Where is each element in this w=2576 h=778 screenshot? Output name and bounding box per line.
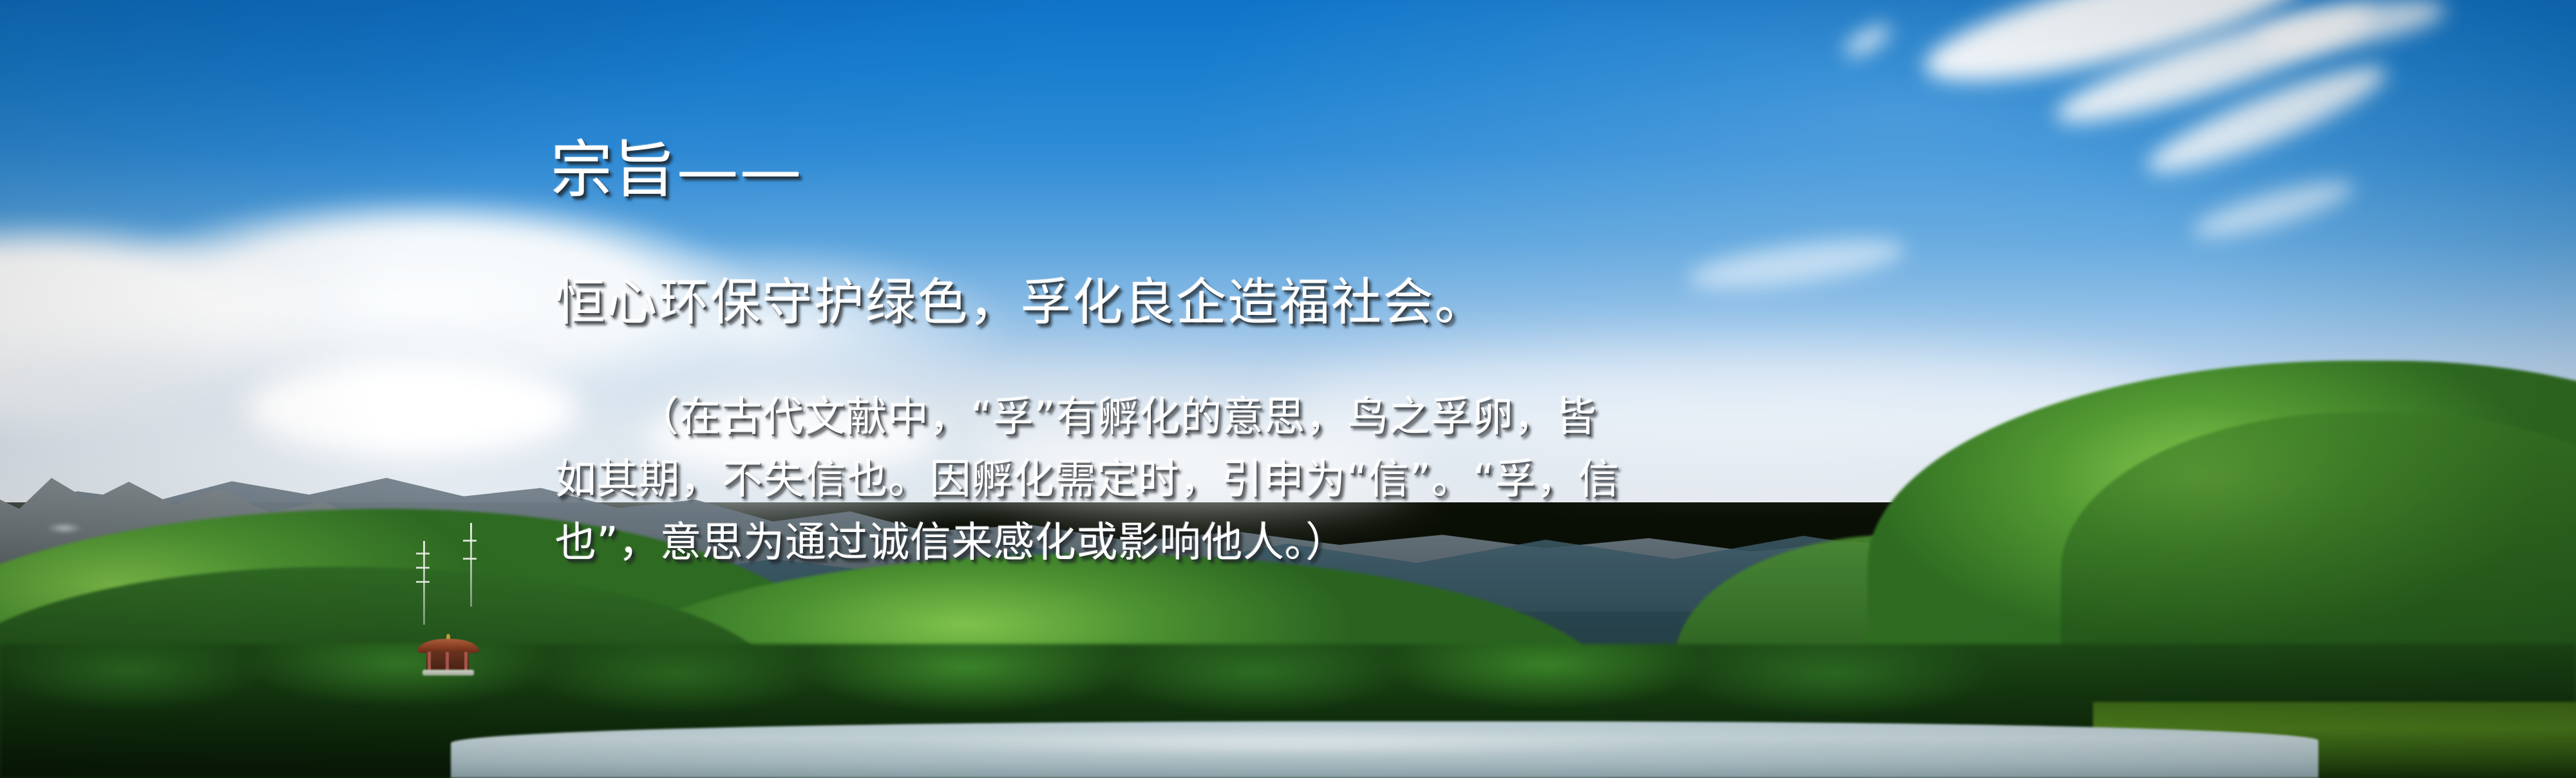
banner-title: 宗旨—— — [551, 139, 803, 202]
banner-note-line-1: （在古代文献中，“孚”有孵化的意思，鸟之孚卵，皆 — [555, 386, 1620, 449]
banner-note-line-2: 如其期，不失信也。因孵化需定时，引申为“信”。“孚，信 — [555, 449, 1620, 511]
hero-banner: 宗旨—— 恒心环保守护绿色，孚化良企造福社会。 （在古代文献中，“孚”有孵化的意… — [0, 0, 2576, 778]
banner-note-line-3: 也”，意思为通过诚信来感化或影响他人。） — [555, 512, 1620, 574]
banner-note: （在古代文献中，“孚”有孵化的意思，鸟之孚卵，皆 如其期，不失信也。因孵化需定时… — [555, 386, 1620, 574]
banner-text-layer: 宗旨—— 恒心环保守护绿色，孚化良企造福社会。 （在古代文献中，“孚”有孵化的意… — [0, 0, 2576, 778]
banner-slogan: 恒心环保守护绿色，孚化良企造福社会。 — [555, 277, 1486, 330]
